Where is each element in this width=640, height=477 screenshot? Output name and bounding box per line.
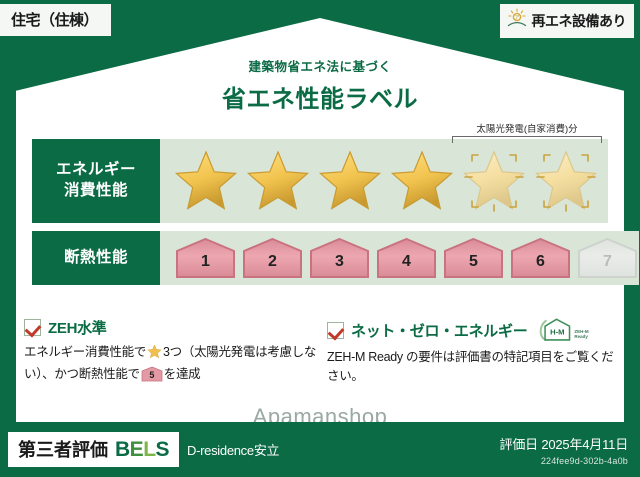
- note-zeh-body-pre: エネルギー消費性能で: [24, 345, 146, 359]
- bels-logo: BELS: [115, 438, 169, 462]
- energy-performance-body: 太陽光発電(自家消費)分: [160, 139, 608, 223]
- zehm-logo-sub-line2: Ready: [574, 334, 588, 339]
- insulation-grade-value: 2: [241, 237, 304, 279]
- svg-text:H-M: H-M: [550, 328, 564, 337]
- solar-bracket-line: [452, 136, 602, 143]
- insulation-grade-list: 1234567: [160, 237, 639, 279]
- check-icon: [327, 322, 344, 339]
- star-solar: [462, 150, 526, 212]
- note-zeh-body-post: を達成: [164, 367, 201, 381]
- insulation-grade-value: 5: [442, 237, 505, 279]
- insulation-grade-3: 3: [308, 237, 371, 279]
- insulation-grade-5: 5: [442, 237, 505, 279]
- bels-letter-s: S: [156, 438, 170, 461]
- title-block: 建築物省エネ法に基づく 省エネ性能ラベル: [0, 56, 640, 114]
- footer-bar: 第三者評価 BELS D-residence安立 評価日 2025年4月11日 …: [0, 422, 640, 477]
- label-board: 住宅（住棟） ア 再エネ設備あり 建築物省エネ法に基づく 省エネ性能ラベル: [0, 0, 640, 477]
- insulation-grade-1: 1: [174, 237, 237, 279]
- bels-letter-e: E: [130, 438, 144, 461]
- note-zehm-body: ZEH-M Ready の要件は評価書の特記項目をご覧ください。: [327, 348, 620, 387]
- insulation-grade-7: 7: [576, 237, 639, 279]
- sun-icon: ア: [506, 8, 528, 33]
- evaluation-id: 224fee9d-302b-4a0b: [500, 456, 628, 466]
- zehm-ready-logo: H-M ZEH-M Ready: [538, 317, 588, 343]
- renewable-equipment-badge: ア 再エネ設備あり: [500, 4, 635, 38]
- insulation-performance-row: 断熱性能 1234567: [32, 231, 608, 285]
- svg-text:ア: ア: [514, 14, 520, 21]
- building-name: D-residence安立: [187, 440, 279, 459]
- solar-caption: 太陽光発電(自家消費)分: [452, 121, 602, 135]
- energy-performance-label: エネルギー 消費性能: [32, 139, 160, 223]
- insulation-grade-value: 6: [509, 237, 572, 279]
- note-zehm: ネット・ゼロ・エネルギー H-M ZEH-M Ready ZEH-M Ready…: [327, 317, 620, 387]
- bels-badge: 第三者評価 BELS: [8, 432, 179, 467]
- star-rating: [160, 150, 598, 212]
- note-zeh: ZEH水準 エネルギー消費性能で 3つ（太陽光発電は考慮しない）、かつ断熱性能で…: [24, 317, 317, 387]
- solar-bracket: 太陽光発電(自家消費)分: [452, 121, 602, 143]
- insulation-grade-value: 7: [576, 237, 639, 279]
- note-zeh-body: エネルギー消費性能で 3つ（太陽光発電は考慮しない）、かつ断熱性能で 5 を達成: [24, 343, 317, 385]
- page-title: 省エネ性能ラベル: [0, 79, 640, 114]
- star-filled: [246, 150, 310, 212]
- insulation-grade-4: 4: [375, 237, 438, 279]
- star-solar: [534, 150, 598, 212]
- title-subtitle: 建築物省エネ法に基づく: [0, 56, 640, 75]
- bels-letter-b: B: [115, 438, 130, 461]
- footer-right: 評価日 2025年4月11日 224fee9d-302b-4a0b: [500, 434, 628, 466]
- star-filled: [318, 150, 382, 212]
- bels-letter-l: L: [143, 438, 155, 461]
- check-icon: [24, 319, 41, 336]
- insulation-grade-6: 6: [509, 237, 572, 279]
- zehm-logo-sub: ZEH-M Ready: [574, 330, 588, 343]
- insulation-grade-value: 3: [308, 237, 371, 279]
- insulation-grade-value: 4: [375, 237, 438, 279]
- insulation-performance-label: 断熱性能: [32, 231, 160, 285]
- star-filled: [390, 150, 454, 212]
- energy-performance-row: エネルギー 消費性能 太陽光発電(自家消費)分: [32, 139, 608, 223]
- performance-rows: エネルギー 消費性能 太陽光発電(自家消費)分 断熱性能 1234567: [32, 139, 608, 285]
- inline-star-icon: [147, 344, 162, 365]
- note-zeh-head: ZEH水準: [24, 317, 317, 338]
- star-filled: [174, 150, 238, 212]
- note-zehm-title: ネット・ゼロ・エネルギー: [351, 320, 527, 341]
- inline-grade-badge: 5: [141, 366, 163, 382]
- renewable-equipment-label: 再エネ設備あり: [532, 11, 627, 31]
- third-party-label: 第三者評価: [18, 436, 108, 462]
- inline-grade-value: 5: [141, 366, 163, 382]
- house-type-tag: 住宅（住棟）: [0, 4, 111, 36]
- notes-section: ZEH水準 エネルギー消費性能で 3つ（太陽光発電は考慮しない）、かつ断熱性能で…: [24, 317, 620, 387]
- evaluation-date: 評価日 2025年4月11日: [500, 434, 628, 453]
- insulation-performance-body: 1234567: [160, 231, 639, 285]
- note-zehm-head: ネット・ゼロ・エネルギー H-M ZEH-M Ready: [327, 317, 620, 343]
- insulation-grade-2: 2: [241, 237, 304, 279]
- note-zeh-title: ZEH水準: [48, 317, 107, 338]
- insulation-grade-value: 1: [174, 237, 237, 279]
